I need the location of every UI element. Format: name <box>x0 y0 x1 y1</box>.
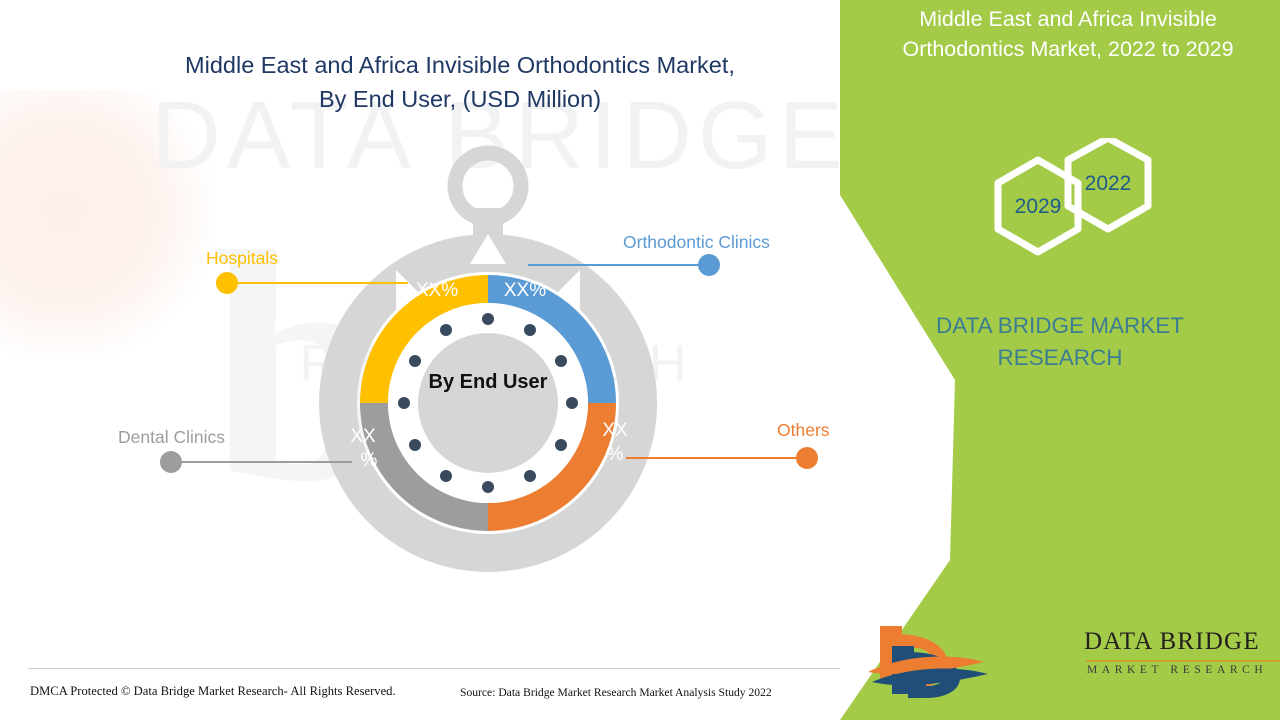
logo-subtitle: MARKET RESEARCH <box>1087 664 1267 676</box>
callout-dot-hospitals[interactable] <box>216 272 238 294</box>
logo-divider <box>1086 660 1280 662</box>
brand-panel: Middle East and Africa Invisible Orthodo… <box>840 0 1280 720</box>
footer-copyright: DMCA Protected © Data Bridge Market Rese… <box>30 684 396 699</box>
brand-name-line-2: RESEARCH <box>997 345 1122 370</box>
panel-title: Middle East and Africa Invisible Orthodo… <box>870 4 1266 64</box>
callout-dot-dental-clinics[interactable] <box>160 451 182 473</box>
callout-line-dental-clinics <box>172 461 352 463</box>
callout-label-others[interactable]: Others <box>777 420 830 441</box>
callout-label-orthodontic-clinics[interactable]: Orthodontic Clinics <box>623 232 770 253</box>
callout-label-dental-clinics[interactable]: Dental Clinics <box>118 427 225 448</box>
footer-divider <box>28 668 840 669</box>
footer-source: Source: Data Bridge Market Research Mark… <box>460 686 772 699</box>
callout-dot-orthodontic-clinics[interactable] <box>698 254 720 276</box>
callout-label-hospitals[interactable]: Hospitals <box>206 248 278 269</box>
panel-title-line-2: Orthodontics Market, 2022 to 2029 <box>902 37 1233 61</box>
callout-dot-others[interactable] <box>796 447 818 469</box>
page-title: Middle East and Africa Invisible Orthodo… <box>140 48 780 116</box>
hexagon-label-2022: 2022 <box>1068 172 1148 196</box>
brand-name: DATA BRIDGE MARKET RESEARCH <box>860 310 1260 374</box>
background-blob <box>0 90 220 360</box>
donut-center-label: By End User <box>278 118 698 598</box>
infographic-canvas: b DATA BRIDGE RESEARCH Middle East and A… <box>0 0 1280 720</box>
page-title-line-2: By End User, (USD Million) <box>319 86 601 112</box>
brand-name-line-1: DATA BRIDGE MARKET <box>936 313 1184 338</box>
callout-line-orthodontic-clinics <box>528 264 710 266</box>
logo-title: DATA BRIDGE <box>1084 628 1260 656</box>
callout-line-hospitals <box>228 282 408 284</box>
hexagon-label-2029: 2029 <box>998 195 1078 219</box>
panel-title-line-1: Middle East and Africa Invisible <box>919 7 1217 31</box>
year-hexagons: 2029 2022 <box>840 138 1280 278</box>
page-title-line-1: Middle East and Africa Invisible Orthodo… <box>185 52 735 78</box>
callout-line-others <box>626 457 806 459</box>
donut-chart: XX% XX% XX % XX % By End User <box>278 118 698 598</box>
company-logo: DATA BRIDGE MARKET RESEARCH <box>862 620 1280 700</box>
logo-mark-icon <box>862 620 1062 700</box>
